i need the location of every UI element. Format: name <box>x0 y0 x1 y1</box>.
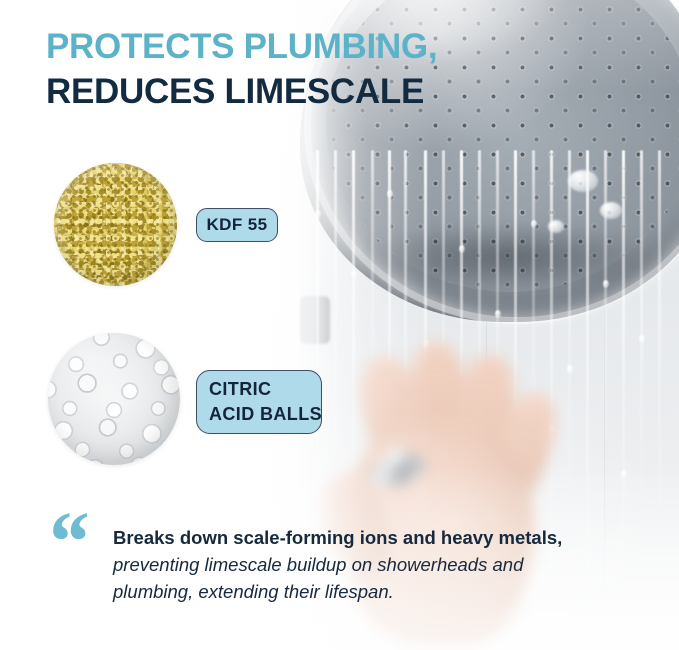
headline-line-1: PROTECTS PLUMBING, <box>46 24 566 69</box>
quote-italic-line-1: preventing limescale buildup on showerhe… <box>113 551 643 578</box>
kdf-55-granules-image <box>54 163 177 286</box>
content-layer: PROTECTS PLUMBING, REDUCES LIMESCALE KDF… <box>0 0 679 650</box>
badge-kdf-55-label: KDF 55 <box>207 215 268 235</box>
page-title: PROTECTS PLUMBING, REDUCES LIMESCALE <box>46 24 566 114</box>
quotation-mark-icon: “ <box>45 498 86 584</box>
product-feature-banner: PROTECTS PLUMBING, REDUCES LIMESCALE KDF… <box>0 0 679 650</box>
badge-citric-line-1: CITRIC <box>209 377 271 402</box>
headline-line-2: REDUCES LIMESCALE <box>46 69 566 114</box>
citric-acid-balls-image <box>48 333 180 465</box>
badge-kdf-55: KDF 55 <box>196 208 278 242</box>
circle-inner-shadow <box>48 333 180 465</box>
quote-text-block: Breaks down scale-forming ions and heavy… <box>113 524 643 605</box>
circle-inner-shadow <box>54 163 177 286</box>
quote-bold-line: Breaks down scale-forming ions and heavy… <box>113 524 643 551</box>
badge-citric-line-2: ACID BALLS <box>209 402 322 427</box>
badge-citric-acid-balls: CITRIC ACID BALLS <box>196 370 322 434</box>
quote-italic-line-2: plumbing, extending their lifespan. <box>113 578 643 605</box>
